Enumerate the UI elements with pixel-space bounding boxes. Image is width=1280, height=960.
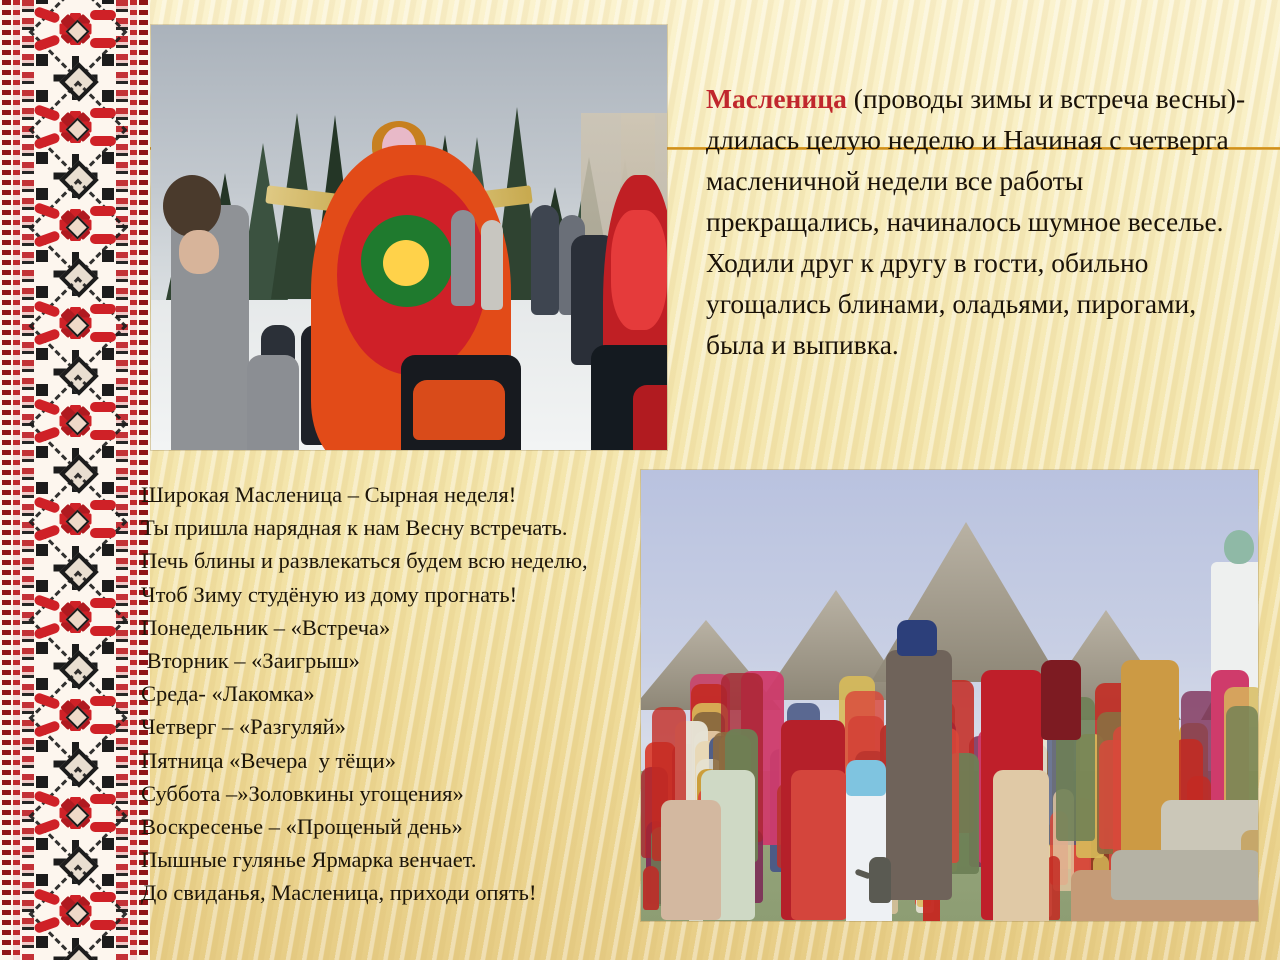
border-edge-right-inner [130,0,137,960]
poem-line: Воскресенье – «Прощеный день» [141,810,641,843]
skirt-hem-orange [413,380,505,440]
intro-paragraph: Масленица (проводы зимы и встреча весны)… [706,78,1254,365]
slide-root: Масленица (проводы зимы и встреча весны)… [0,0,1280,960]
church-dome [1224,530,1254,564]
poem-line: Пятница «Вечера у тёщи» [141,744,641,777]
border-motif-node [34,911,116,960]
maslenitsa-poem: Широкая Масленица – Сырная неделя!Ты при… [141,478,641,910]
poem-line: Вторник – «Заигрыш» [141,644,641,677]
painting-cat [869,857,891,903]
poem-line: Широкая Масленица – Сырная неделя! [141,478,641,511]
intro-body: (проводы зимы и встреча весны)- длилась … [706,83,1245,360]
man-in-grey-coat [886,650,952,900]
maslenitsa-effigy-photo [151,25,667,450]
grey-coat [247,355,299,450]
spectator-1 [531,205,559,315]
border-edge-left-outer [2,0,11,960]
sarafan-stripes [791,770,847,920]
bearded-face [179,230,219,274]
striped-skirt [993,770,1049,921]
sack [661,800,721,920]
red-shawl-pattern [611,210,667,330]
poem-line: Чтоб Зиму студёную из дому прогнать! [141,578,641,611]
spectator-3 [451,210,475,306]
border-motif-column [34,0,116,960]
poem-line: Печь блины и развлекаться будем всю неде… [141,544,641,577]
poem-line: Ты пришла нарядная к нам Весну встречать… [141,511,641,544]
fur-hat [163,175,221,237]
blue-cap [897,620,937,656]
fair-figure [643,866,659,910]
poem-line: До свиданья, Масленица, приходи опять! [141,876,641,909]
border-edge-left-inner [13,0,20,960]
shawl-flower [383,240,429,286]
intro-title: Масленица [706,83,847,114]
red-skirt [633,385,667,450]
slavic-cross-stitch-border [0,0,150,960]
spectator-4 [481,220,503,310]
woven-rug [1111,850,1258,900]
poem-line: Понедельник – «Встреча» [141,611,641,644]
poem-line: Пышные гулянье Ярмарка венчает. [141,843,641,876]
village-fair-painting [641,470,1258,921]
red-hat-man [1041,660,1081,740]
poem-line: Среда- «Лакомка» [141,677,641,710]
poem-line: Четверг – «Разгуляй» [141,710,641,743]
poem-line: Суббота –»Золовкины угощения» [141,777,641,810]
blue-kerchief [846,760,886,796]
